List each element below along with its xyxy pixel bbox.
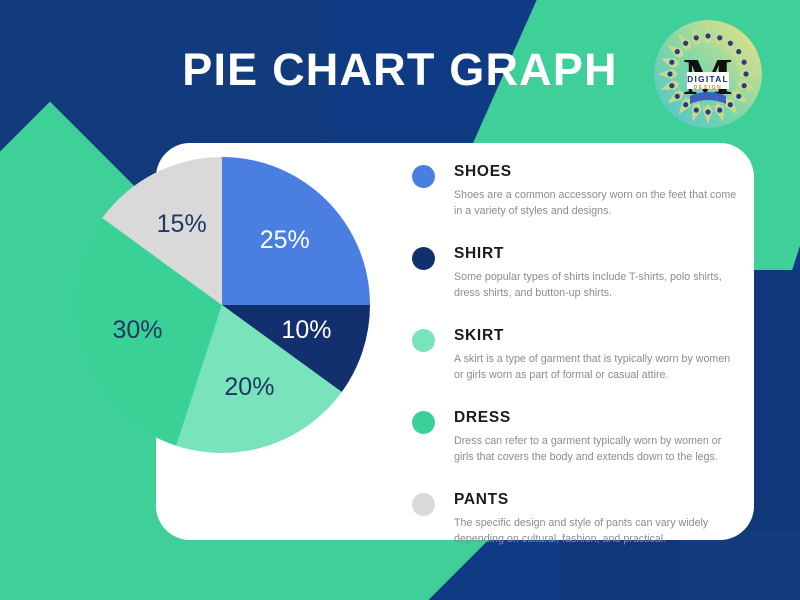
legend-item-description: Dress can refer to a garment typically w… (454, 433, 742, 465)
legend-color-dot-icon (412, 411, 435, 434)
legend-item-label: SHIRT (454, 245, 742, 263)
logo-icon: M DIGITAL DESIGN (654, 20, 762, 128)
legend-item-dress[interactable]: DRESSDress can refer to a garment typica… (412, 409, 742, 465)
pie-label-skirt: 20% (219, 373, 279, 402)
legend-item-description: Some popular types of shirts include T-s… (454, 269, 742, 301)
legend-item-description: A skirt is a type of garment that is typ… (454, 351, 742, 383)
legend-item-shoes[interactable]: SHOESShoes are a common accessory worn o… (412, 163, 742, 219)
pie-label-pants: 15% (152, 210, 212, 239)
legend: SHOESShoes are a common accessory worn o… (412, 163, 742, 547)
legend-item-label: PANTS (454, 491, 742, 509)
digital-logo-badge: M DIGITAL DESIGN (654, 20, 762, 128)
pie-label-shirt: 10% (276, 316, 336, 345)
svg-text:DESIGN: DESIGN (694, 85, 723, 91)
legend-item-shirt[interactable]: SHIRTSome popular types of shirts includ… (412, 245, 742, 301)
pie-chart: 25%10%20%30%15% (74, 157, 370, 453)
legend-color-dot-icon (412, 329, 435, 352)
legend-item-label: DRESS (454, 409, 742, 427)
pie-label-dress: 30% (108, 316, 168, 345)
legend-color-dot-icon (412, 247, 435, 270)
pie-chart-svg (74, 157, 370, 453)
legend-item-pants[interactable]: PANTSThe specific design and style of pa… (412, 491, 742, 547)
svg-text:DIGITAL: DIGITAL (687, 74, 729, 84)
legend-item-skirt[interactable]: SKIRTA skirt is a type of garment that i… (412, 327, 742, 383)
legend-item-description: Shoes are a common accessory worn on the… (454, 187, 742, 219)
legend-item-description: The specific design and style of pants c… (454, 515, 742, 547)
legend-color-dot-icon (412, 165, 435, 188)
infographic-canvas: PIE CHART GRAPH M DIGITAL DESIGN (0, 0, 800, 600)
legend-color-dot-icon (412, 493, 435, 516)
legend-item-label: SHOES (454, 163, 742, 181)
pie-label-shoes: 25% (255, 226, 315, 255)
legend-item-label: SKIRT (454, 327, 742, 345)
